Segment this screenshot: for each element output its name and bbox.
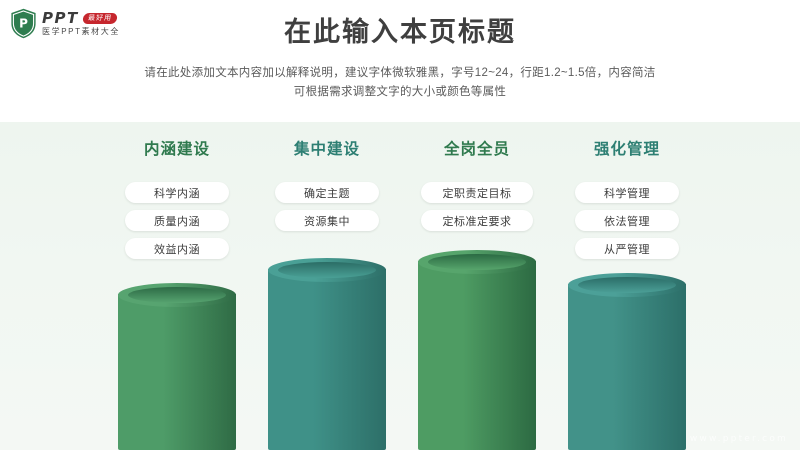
cylinder-body-1 <box>118 294 236 450</box>
page-subtitle: 请在此处添加文本内容加以解释说明，建议字体微软雅黑，字号12~24，行距1.2~… <box>0 64 800 102</box>
cylinder-inner-4 <box>578 277 676 293</box>
pill-item[interactable]: 从严管理 <box>575 238 679 259</box>
pill-list-4: 科学管理 依法管理 从严管理 <box>552 182 702 259</box>
pill-item[interactable]: 定职责定目标 <box>421 182 533 203</box>
site-watermark: www.ppter.com <box>690 434 788 444</box>
pill-item[interactable]: 科学内涵 <box>125 182 229 203</box>
pill-item[interactable]: 效益内涵 <box>125 238 229 259</box>
cylinder-inner-1 <box>128 287 226 303</box>
pill-item[interactable]: 科学管理 <box>575 182 679 203</box>
page-title: 在此输入本页标题 <box>0 16 800 49</box>
column-heading-3: 全岗全员 <box>402 140 552 160</box>
column-heading-4: 强化管理 <box>552 140 702 160</box>
subtitle-line-1: 请在此处添加文本内容加以解释说明，建议字体微软雅黑，字号12~24，行距1.2~… <box>0 64 800 83</box>
cylinder-top-1 <box>118 283 236 307</box>
pill-item[interactable]: 确定主题 <box>275 182 379 203</box>
pill-item[interactable]: 定标准定要求 <box>421 210 533 231</box>
slide-canvas: P PPT 最好用 医学PPT素材大全 在此输入本页标题 请在此处添加文本内容加… <box>0 0 800 450</box>
column-group: 内涵建设 科学内涵 质量内涵 效益内涵 集中建设 确定主题 资源集中 <box>0 122 800 450</box>
subtitle-line-2: 可根据需求调整文字的大小或颜色等属性 <box>0 83 800 102</box>
cylinder-inner-3 <box>428 254 526 270</box>
column-heading-2: 集中建设 <box>252 140 402 160</box>
cylinder-top-3 <box>418 250 536 274</box>
pill-item[interactable]: 依法管理 <box>575 210 679 231</box>
cylinder-top-4 <box>568 273 686 297</box>
cylinder-body-2 <box>268 269 386 450</box>
pill-list-3: 定职责定目标 定标准定要求 <box>402 182 552 231</box>
pill-list-2: 确定主题 资源集中 <box>252 182 402 231</box>
column-heading-1: 内涵建设 <box>102 140 252 160</box>
pill-list-1: 科学内涵 质量内涵 效益内涵 <box>102 182 252 259</box>
pill-item[interactable]: 资源集中 <box>275 210 379 231</box>
cylinder-body-3 <box>418 261 536 450</box>
cylinder-body-4 <box>568 284 686 450</box>
cylinder-top-2 <box>268 258 386 282</box>
pill-item[interactable]: 质量内涵 <box>125 210 229 231</box>
cylinder-inner-2 <box>278 262 376 278</box>
